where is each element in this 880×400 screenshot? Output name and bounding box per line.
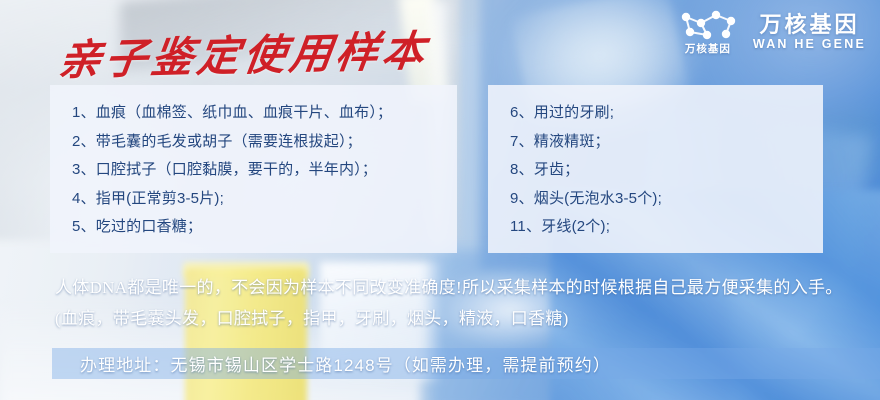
list-item: 8、牙齿； — [510, 156, 823, 185]
sample-list-left: 1、血痕（血棉签、纸巾血、血痕干片、血布）； 2、带毛囊的毛发或胡子（需要连根拔… — [50, 99, 457, 242]
address-text: 办理地址：无锡市锡山区学士路1248号（如需办理，需提前预约） — [52, 351, 611, 376]
list-item: 3、口腔拭子（口腔黏膜，要干的，半年内）； — [72, 156, 457, 185]
list-item: 5、吃过的口香糖； — [72, 213, 457, 242]
sample-list-right: 6、用过的牙刷; 7、精液精斑； 8、牙齿； 9、烟头(无泡水3-5个); 11… — [488, 99, 823, 242]
brand-logo: 万核基因 万核基因 WAN HE GENE — [677, 8, 866, 56]
list-item: 7、精液精斑； — [510, 128, 823, 157]
list-item: 9、烟头(无泡水3-5个); — [510, 185, 823, 214]
molecule-icon — [677, 8, 739, 40]
page-title: 亲子鉴定使用样本 — [55, 17, 432, 88]
logo-mark: 万核基因 — [677, 8, 739, 56]
promo-banner: 亲子鉴定使用样本 — [0, 0, 880, 400]
sample-list-panel-right: 6、用过的牙刷; 7、精液精斑； 8、牙齿； 9、烟头(无泡水3-5个); 11… — [488, 85, 823, 253]
logo-mark-label: 万核基因 — [685, 41, 731, 56]
logo-name-en: WAN HE GENE — [753, 37, 866, 51]
list-item: 11、牙线(2个); — [510, 213, 823, 242]
list-item: 4、指甲(正常剪3-5片); — [72, 185, 457, 214]
list-item: 2、带毛囊的毛发或胡子（需要连根拔起）； — [72, 128, 457, 157]
description-paragraph: 人体DNA都是唯一的，不会因为样本不同改变准确度!所以采集样本的时候根据自己最方… — [55, 272, 855, 334]
logo-wordmark: 万核基因 WAN HE GENE — [753, 13, 866, 52]
sample-list-panel-left: 1、血痕（血棉签、纸巾血、血痕干片、血布）； 2、带毛囊的毛发或胡子（需要连根拔… — [50, 85, 457, 253]
list-item: 6、用过的牙刷; — [510, 99, 823, 128]
address-bar: 办理地址：无锡市锡山区学士路1248号（如需办理，需提前预约） — [52, 348, 880, 379]
logo-name-cn: 万核基因 — [759, 13, 859, 38]
list-item: 1、血痕（血棉签、纸巾血、血痕干片、血布）； — [72, 99, 457, 128]
